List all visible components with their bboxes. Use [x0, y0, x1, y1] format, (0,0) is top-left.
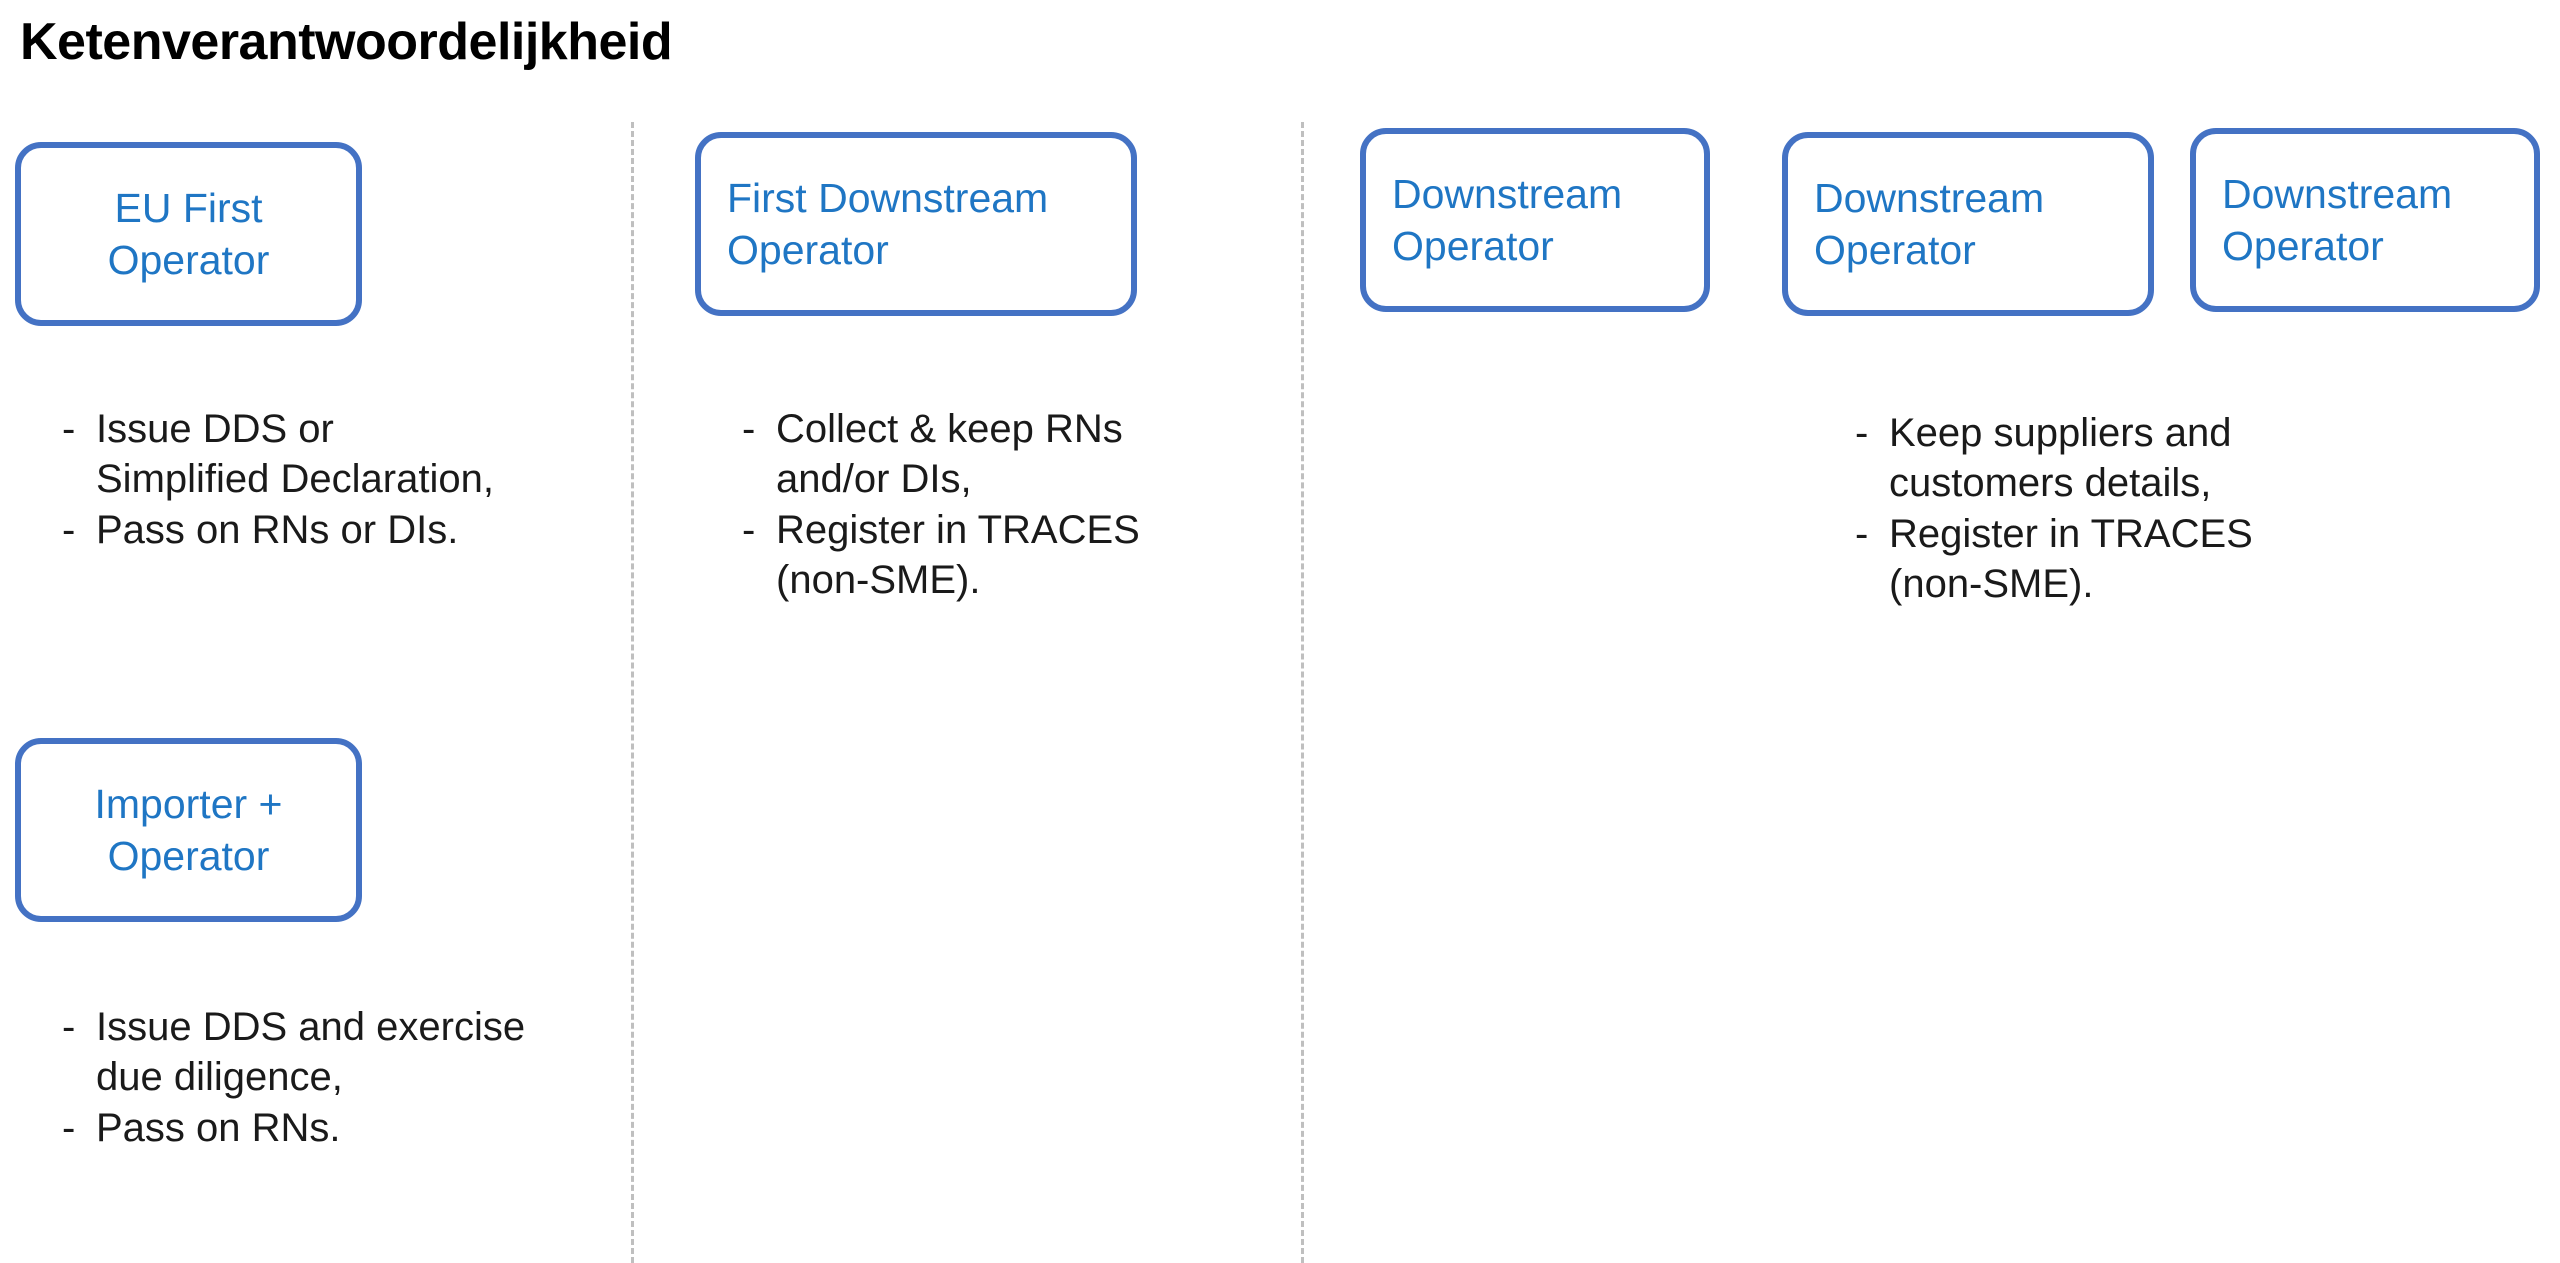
- list-item-text: Keep suppliers and customers details,: [1889, 408, 2415, 509]
- importer-operator-label-line1: Importer +: [95, 778, 283, 830]
- eu-first-operator-box[interactable]: EU First Operator: [15, 142, 362, 326]
- page-title: Ketenverantwoordelijkheid: [20, 12, 672, 72]
- first-downstream-operator-label-line1: First Downstream: [727, 172, 1048, 224]
- column-divider-2: [1301, 122, 1304, 1263]
- first-downstream-operator-box[interactable]: First Downstream Operator: [695, 132, 1137, 316]
- bullet-dash-icon: -: [62, 404, 96, 454]
- eu-first-operator-label-line1: EU First: [114, 182, 262, 234]
- bullet-dash-icon: -: [742, 404, 776, 454]
- downstream-operator-1-label-line2: Operator: [1392, 220, 1554, 272]
- downstream-operator-1-label-line1: Downstream: [1392, 168, 1622, 220]
- bullet-dash-icon: -: [1855, 509, 1889, 559]
- list-item-text: Register in TRACES (non-SME).: [1889, 509, 2415, 610]
- list-item: - Register in TRACES (non-SME).: [742, 505, 1272, 606]
- list-item: - Issue DDS or Simplified Declaration,: [62, 404, 622, 505]
- bullet-dash-icon: -: [62, 1103, 96, 1153]
- downstream-operator-box-2[interactable]: Downstream Operator: [1782, 132, 2154, 316]
- importer-operator-bullets: - Issue DDS and exercise due diligence, …: [62, 1002, 622, 1153]
- list-item: - Keep suppliers and customers details,: [1855, 408, 2415, 509]
- list-item-text: Issue DDS or Simplified Declaration,: [96, 404, 622, 505]
- bullet-dash-icon: -: [1855, 408, 1889, 458]
- list-item-text: Collect & keep RNs and/or DIs,: [776, 404, 1272, 505]
- eu-first-operator-bullets: - Issue DDS or Simplified Declaration, -…: [62, 404, 622, 555]
- list-item: - Register in TRACES (non-SME).: [1855, 509, 2415, 610]
- bullet-dash-icon: -: [742, 505, 776, 555]
- list-item: - Pass on RNs or DIs.: [62, 505, 622, 555]
- list-item-text: Pass on RNs or DIs.: [96, 505, 622, 555]
- list-item: - Collect & keep RNs and/or DIs,: [742, 404, 1272, 505]
- downstream-operator-2-label-line1: Downstream: [1814, 172, 2044, 224]
- bullet-dash-icon: -: [62, 505, 96, 555]
- downstream-operator-2-label-line2: Operator: [1814, 224, 1976, 276]
- eu-first-operator-label-line2: Operator: [108, 234, 270, 286]
- first-downstream-operator-bullets: - Collect & keep RNs and/or DIs, - Regis…: [742, 404, 1272, 606]
- diagram-canvas: Ketenverantwoordelijkheid EU First Opera…: [0, 0, 2560, 1263]
- column-divider-1: [631, 122, 634, 1263]
- list-item: - Pass on RNs.: [62, 1103, 622, 1153]
- downstream-operator-box-1[interactable]: Downstream Operator: [1360, 128, 1710, 312]
- downstream-operator-3-label-line1: Downstream: [2222, 168, 2452, 220]
- first-downstream-operator-label-line2: Operator: [727, 224, 889, 276]
- list-item: - Issue DDS and exercise due diligence,: [62, 1002, 622, 1103]
- downstream-operator-3-label-line2: Operator: [2222, 220, 2384, 272]
- list-item-text: Issue DDS and exercise due diligence,: [96, 1002, 622, 1103]
- downstream-operator-box-3[interactable]: Downstream Operator: [2190, 128, 2540, 312]
- importer-operator-box[interactable]: Importer + Operator: [15, 738, 362, 922]
- downstream-operators-bullets: - Keep suppliers and customers details, …: [1855, 408, 2415, 610]
- bullet-dash-icon: -: [62, 1002, 96, 1052]
- list-item-text: Pass on RNs.: [96, 1103, 622, 1153]
- importer-operator-label-line2: Operator: [108, 830, 270, 882]
- list-item-text: Register in TRACES (non-SME).: [776, 505, 1272, 606]
